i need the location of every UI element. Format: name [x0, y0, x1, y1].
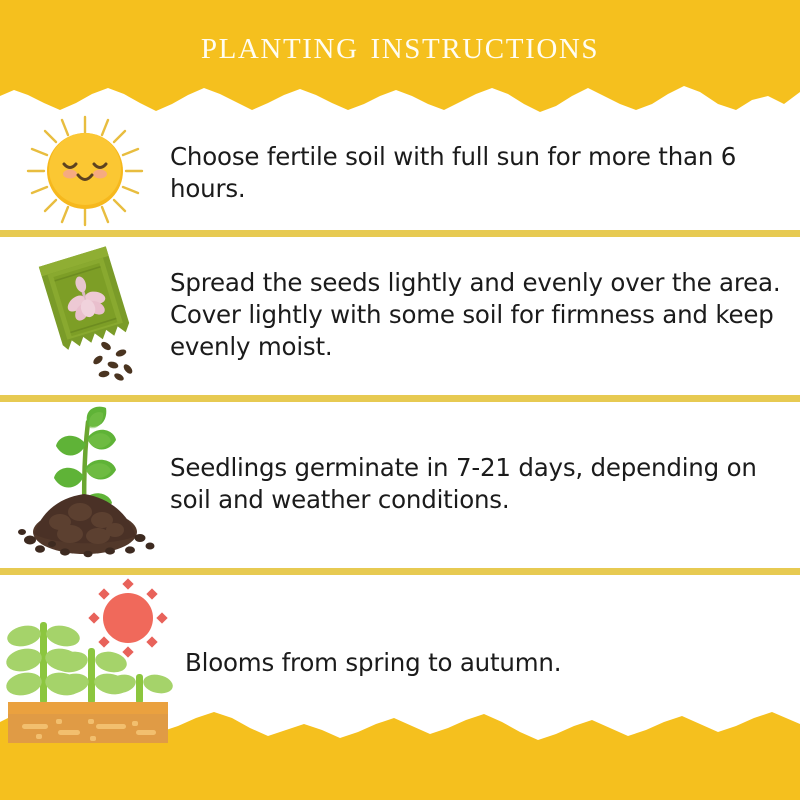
step-4-icon-container [0, 578, 185, 748]
step-2-icon-container [0, 243, 170, 388]
step-row-2: Spread the seeds lightly and evenly over… [0, 240, 800, 390]
step-3-text: Seedlings germinate in 7-21 days, depend… [170, 452, 800, 517]
step-row-1: Choose fertile soil with full sun for mo… [0, 118, 800, 228]
seed-packet-icon [18, 243, 153, 388]
section-divider [0, 230, 800, 237]
seedling-in-soil-icon [10, 404, 160, 564]
smiling-sun-icon [20, 111, 150, 236]
section-divider [0, 568, 800, 575]
planting-instructions-poster: Planting Instructions [0, 0, 800, 800]
step-4-text: Blooms from spring to autumn. [185, 647, 800, 679]
section-divider [0, 395, 800, 402]
step-1-text: Choose fertile soil with full sun for mo… [170, 141, 800, 206]
step-1-icon-container [0, 111, 170, 236]
step-row-3: Seedlings germinate in 7-21 days, depend… [0, 404, 800, 564]
step-3-icon-container [0, 404, 170, 564]
growing-plants-with-sun-icon [0, 578, 185, 748]
page-title: Planting Instructions [0, 24, 800, 65]
step-row-4: Blooms from spring to autumn. [0, 578, 800, 748]
step-2-text: Spread the seeds lightly and evenly over… [170, 267, 800, 364]
